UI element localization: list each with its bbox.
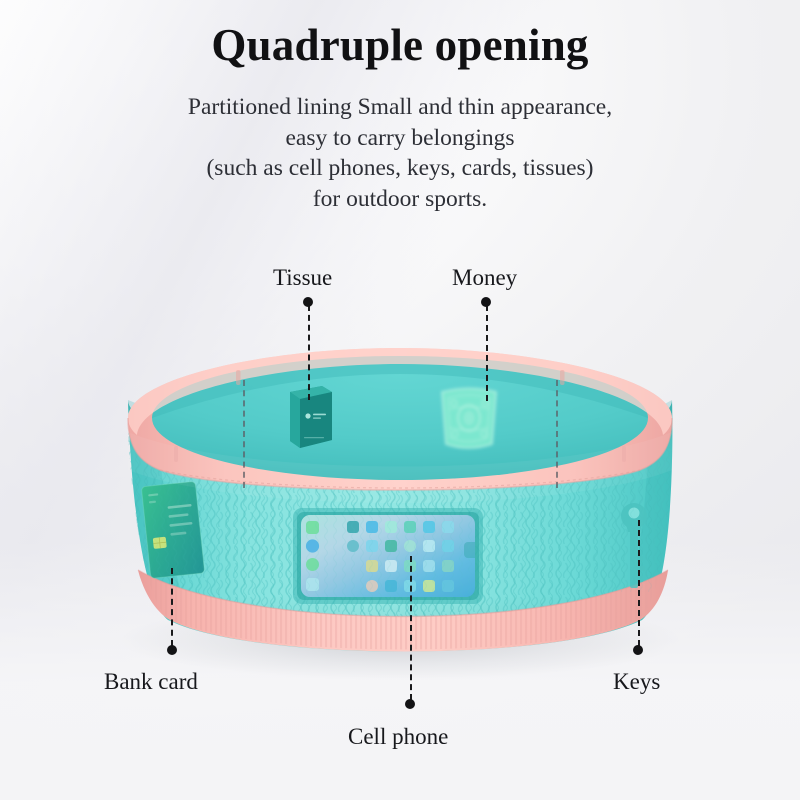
leader-line-keys xyxy=(638,520,640,646)
tissue-pack xyxy=(290,386,332,448)
bank-card xyxy=(141,481,204,578)
cell-phone xyxy=(293,508,483,604)
leader-dot-cell-phone xyxy=(405,699,415,709)
callout-label-keys: Keys xyxy=(613,669,660,695)
leader-dot-tissue xyxy=(303,297,313,307)
callout-label-cell-phone: Cell phone xyxy=(348,724,448,750)
partition-line-right xyxy=(556,380,558,488)
subtitle-line-2: easy to carry belongings xyxy=(0,123,800,154)
page-title: Quadruple opening xyxy=(0,22,800,69)
leader-dot-money xyxy=(481,297,491,307)
banknote xyxy=(442,389,496,449)
subtitle-line-1: Partitioned lining Small and thin appear… xyxy=(0,92,800,123)
leader-line-cell-phone xyxy=(410,556,412,700)
subtitle-line-4: for outdoor sports. xyxy=(0,184,800,215)
key xyxy=(618,500,652,592)
leader-line-tissue xyxy=(308,305,310,400)
leader-line-bank-card xyxy=(171,568,173,646)
product-infographic: Quadruple opening Partitioned lining Sma… xyxy=(0,0,800,800)
callout-label-tissue: Tissue xyxy=(273,265,332,291)
partition-line-left xyxy=(243,380,245,488)
leader-dot-keys xyxy=(633,645,643,655)
callout-label-bank-card: Bank card xyxy=(104,669,198,695)
subtitle-block: Partitioned lining Small and thin appear… xyxy=(0,92,800,214)
leader-line-money xyxy=(486,305,488,401)
callout-label-money: Money xyxy=(452,265,517,291)
subtitle-line-3: (such as cell phones, keys, cards, tissu… xyxy=(0,153,800,184)
leader-dot-bank-card xyxy=(167,645,177,655)
